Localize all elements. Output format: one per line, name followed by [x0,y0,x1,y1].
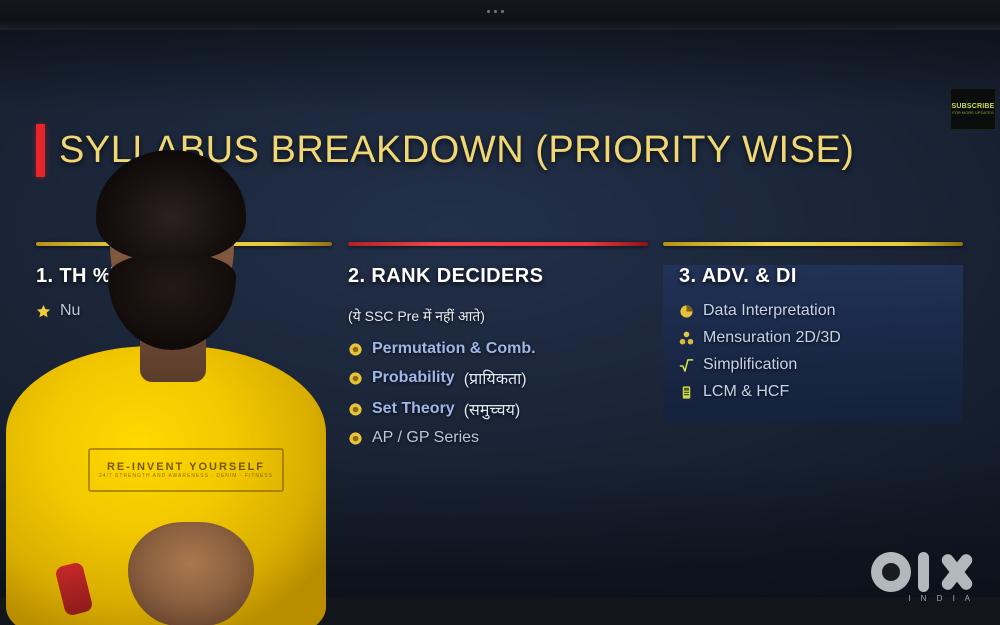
column-3-rule [663,242,963,246]
column-3-list: Data Interpretation Mensuration 2D/3D [679,302,947,401]
list-item: Simplification [679,356,947,374]
list-item-label: Mensuration 2D/3D [703,329,841,347]
list-item-label-hindi: (प्रायिकता) [464,367,527,389]
list-item: Set Theory (समुच्चय) [348,398,648,420]
video-screenshot: SYLLABUS BREAKDOWN (PRIORITY WISE) 1. TH… [0,0,1000,625]
jacket-print: RE-INVENT YOURSELF 24/7 STRENGTH AND AWA… [88,448,284,492]
list-item-label: Simplification [703,356,797,374]
coin-icon [348,431,363,446]
column-2-heading: 2. RANK DECIDERS [348,265,648,288]
presentation-slide: SYLLABUS BREAKDOWN (PRIORITY WISE) 1. TH… [0,30,1000,597]
olx-logo-icon [871,552,978,592]
recycle-icon [679,331,694,346]
column-3-panel: 3. ADV. & DI Data Interpretation [663,265,963,424]
list-item-label-hindi: (समुच्चय) [464,398,521,420]
list-item-label: Data Interpretation [703,302,836,320]
column-3-heading: 3. ADV. & DI [679,265,947,288]
presenter-beard [108,254,236,350]
olx-letter-x-icon [936,552,978,592]
notch-dots-icon [487,10,504,13]
coin-icon [348,342,363,357]
list-item-label: LCM & HCF [703,383,789,401]
list-item: Probability (प्रायिकता) [348,367,648,389]
channel-badge-line1: SUBSCRIBE [951,103,994,110]
square-root-icon [679,358,694,373]
channel-badge-line2: FOR MORE UPDATES [952,110,993,115]
abacus-icon [679,385,694,400]
olx-region-label: I N D I A [908,594,974,603]
list-item-label: Probability [372,369,455,387]
channel-badge: SUBSCRIBE FOR MORE UPDATES [950,88,996,130]
list-item: Data Interpretation [679,302,947,320]
olx-watermark: I N D I A [871,552,978,603]
list-item-label: AP / GP Series [372,429,479,447]
list-item-label: Set Theory [372,400,455,418]
list-item-label: Permutation & Comb. [372,340,536,358]
coin-icon [348,371,363,386]
list-item: Mensuration 2D/3D [679,329,947,347]
list-item: Permutation & Comb. [348,340,648,358]
olx-letter-o-icon [871,552,911,592]
presenter-hands [128,522,254,625]
column-2: 2. RANK DECIDERS (ये SSC Pre में नहीं आत… [348,242,648,456]
pie-chart-icon [679,304,694,319]
presenter: RE-INVENT YOURSELF 24/7 STRENGTH AND AWA… [0,150,340,625]
olx-letter-l-icon [918,552,929,592]
list-item: AP / GP Series [348,429,648,447]
coin-icon [348,402,363,417]
device-top-bar [0,0,1000,30]
presenter-hair [96,150,246,260]
column-2-note: (ये SSC Pre में नहीं आते) [348,307,648,326]
jacket-print-text: RE-INVENT YOURSELF [107,461,265,473]
list-item: LCM & HCF [679,383,947,401]
column-3: 3. ADV. & DI Data Interpretation [663,242,963,424]
jacket-print-subtext: 24/7 STRENGTH AND AWARENESS · DENIM · FI… [99,473,273,479]
column-2-rule [348,242,648,246]
column-2-list: Permutation & Comb. Probability (प्रायिक… [348,340,648,447]
